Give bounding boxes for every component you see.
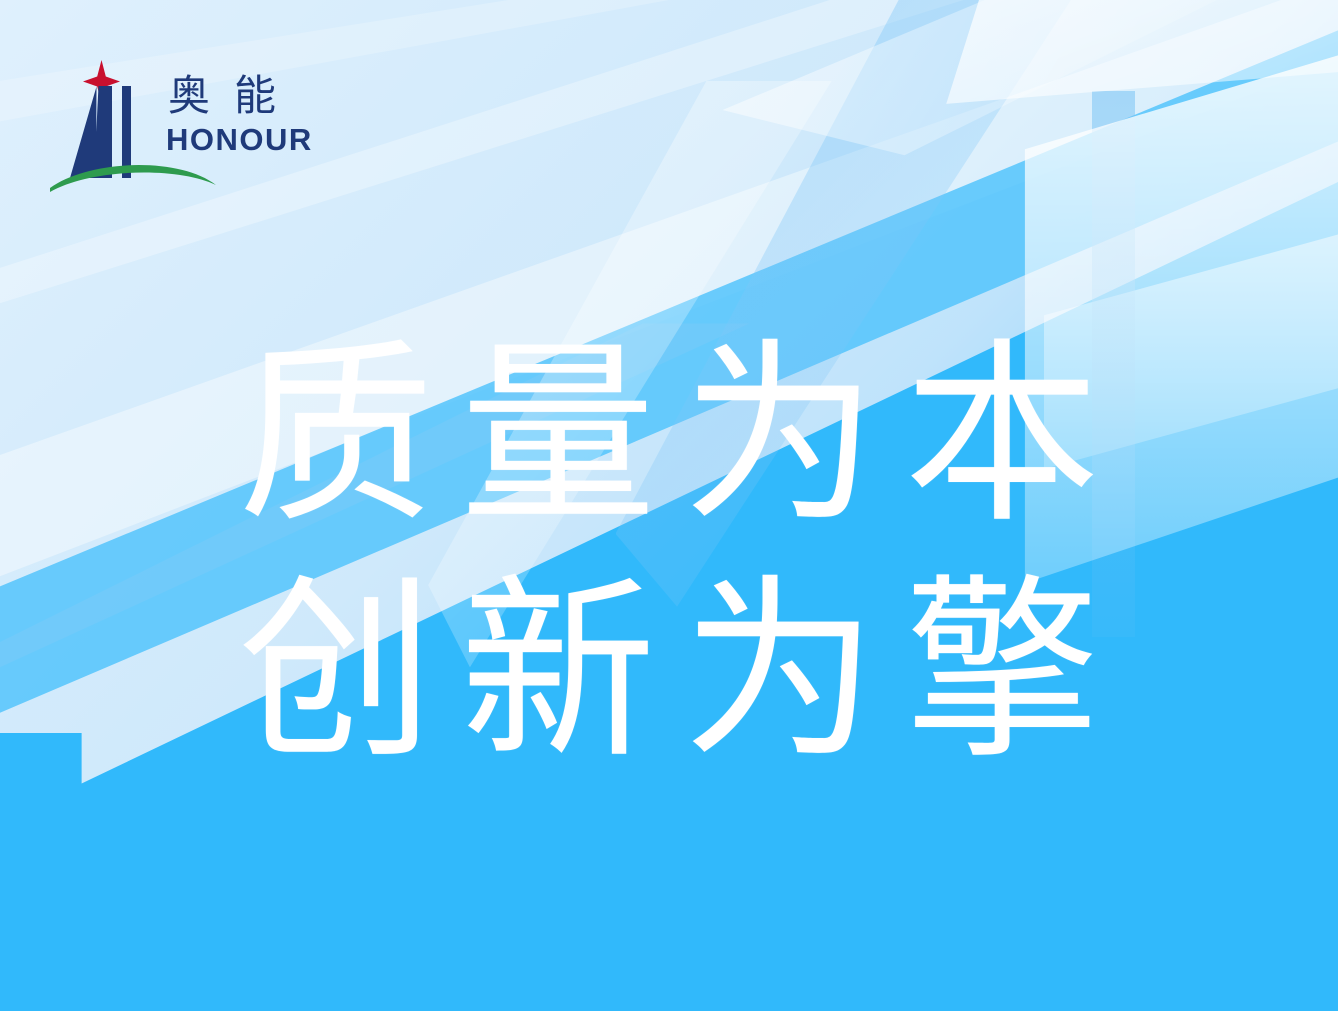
vertical-bar-icon [122, 86, 131, 178]
headline-block: 质量为本 创新为擎 [238, 318, 1138, 790]
headline-line-1: 质量为本 [238, 318, 1138, 554]
poster-canvas: 奥 能 HONOUR 质量为本 创新为擎 [0, 0, 1338, 1011]
logo-chinese-char-1: 奥 [168, 71, 210, 120]
logo-latin-name: HONOUR [166, 122, 313, 157]
a-monogram-icon [70, 86, 112, 178]
honour-logo: 奥 能 HONOUR [48, 52, 313, 200]
logo-chinese-char-2: 能 [234, 71, 276, 120]
architecture-beam [723, 0, 1258, 263]
headline-line-2: 创新为擎 [238, 554, 1138, 790]
